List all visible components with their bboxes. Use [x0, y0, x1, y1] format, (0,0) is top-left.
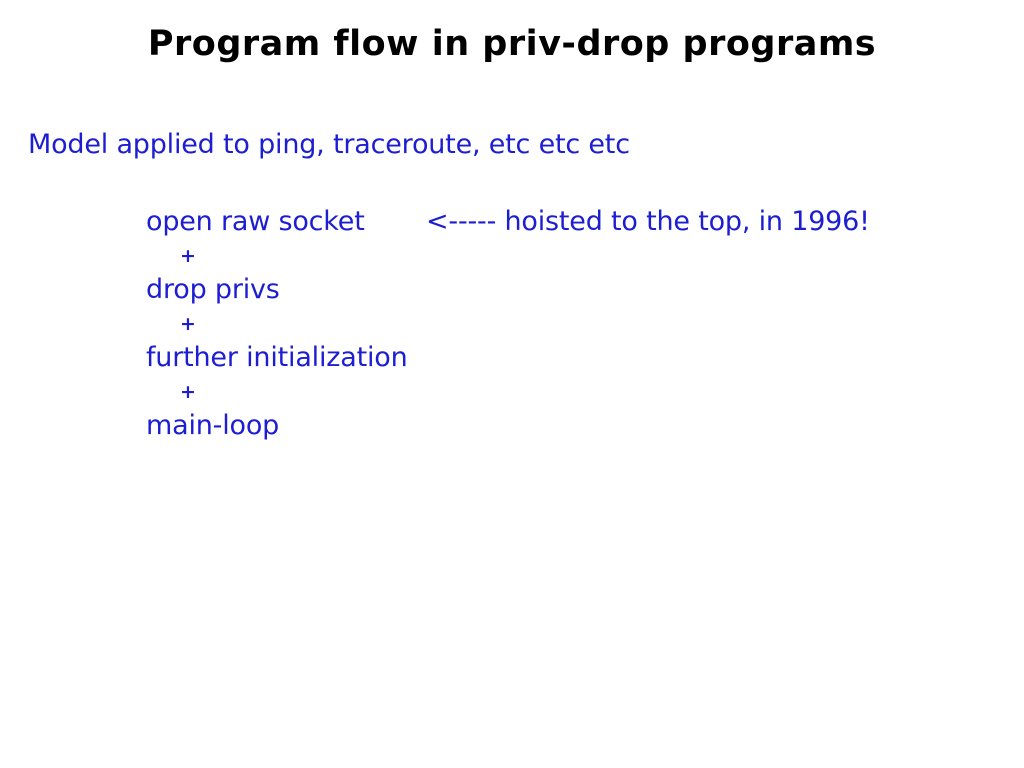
flow-step-main-loop: main-loop — [146, 409, 279, 443]
flow-connector-plus-3: + — [146, 375, 946, 409]
program-flow-list: open raw socket <----- hoisted to the to… — [146, 205, 946, 443]
slide-subtitle: Model applied to ping, traceroute, etc e… — [28, 129, 630, 160]
flow-connector-plus-2: + — [146, 307, 946, 341]
flow-connector-plus-1: + — [146, 239, 946, 273]
flow-step-open-raw-socket: open raw socket — [146, 205, 365, 239]
flow-row: drop privs — [146, 273, 946, 307]
page-title: Program flow in priv-drop programs — [0, 24, 1024, 64]
flow-row: open raw socket <----- hoisted to the to… — [146, 205, 946, 239]
slide-canvas: Program flow in priv-drop programs Model… — [0, 0, 1024, 768]
flow-row: further initialization — [146, 341, 946, 375]
flow-row: main-loop — [146, 409, 946, 443]
flow-step-further-initialization: further initialization — [146, 341, 408, 375]
flow-annotation-hoisted: <----- hoisted to the top, in 1996! — [426, 205, 870, 239]
flow-step-drop-privs: drop privs — [146, 273, 280, 307]
